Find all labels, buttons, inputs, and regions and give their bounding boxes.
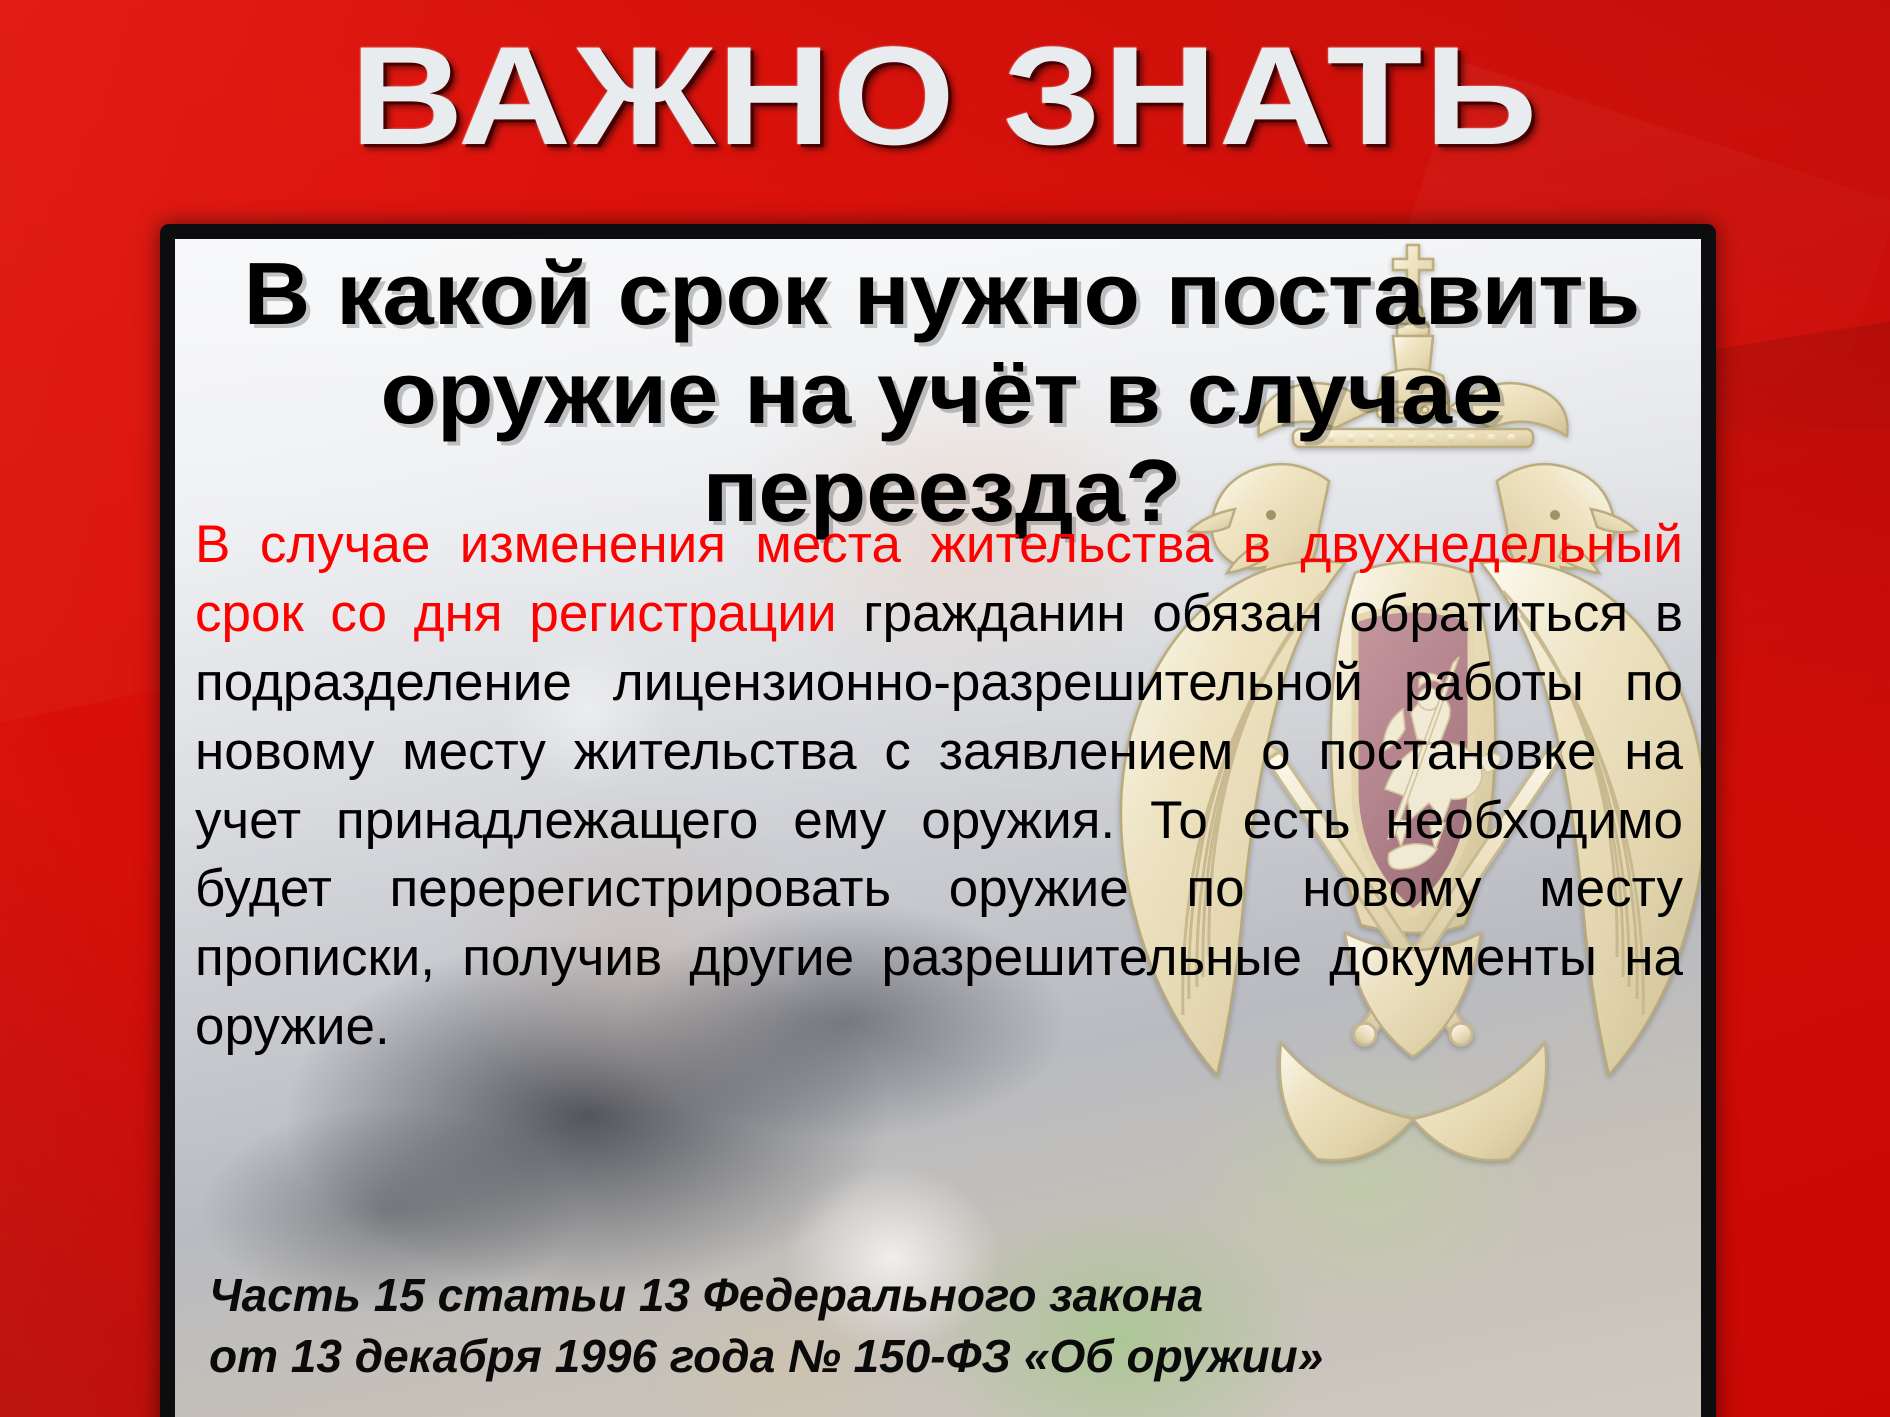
heading-line-1: В какой срок нужно поставить (160, 245, 1716, 344)
poster-slide: ВАЖНО ЗНАТЬ (0, 0, 1890, 1417)
card-body-text: В случае изменения места жительства в дв… (195, 511, 1683, 1062)
body-rest-text: гражданин обязан обратиться в подразделе… (195, 584, 1683, 1056)
footnote-line-2: от 13 декабря 1996 года № 150-ФЗ «Об ору… (209, 1326, 1323, 1388)
banner: ВАЖНО ЗНАТЬ (0, 26, 1890, 166)
body-paragraph: В случае изменения места жительства в дв… (195, 511, 1683, 1062)
card-content: В какой срок нужно поставить оружие на у… (175, 239, 1701, 1417)
card-heading: В какой срок нужно поставить оружие на у… (160, 245, 1716, 541)
content-card: В какой срок нужно поставить оружие на у… (160, 224, 1716, 1417)
banner-title: ВАЖНО ЗНАТЬ (350, 26, 1539, 166)
legal-reference-footnote: Часть 15 статьи 13 Федерального закона о… (209, 1265, 1323, 1388)
footnote-line-1: Часть 15 статьи 13 Федерального закона (209, 1265, 1323, 1327)
